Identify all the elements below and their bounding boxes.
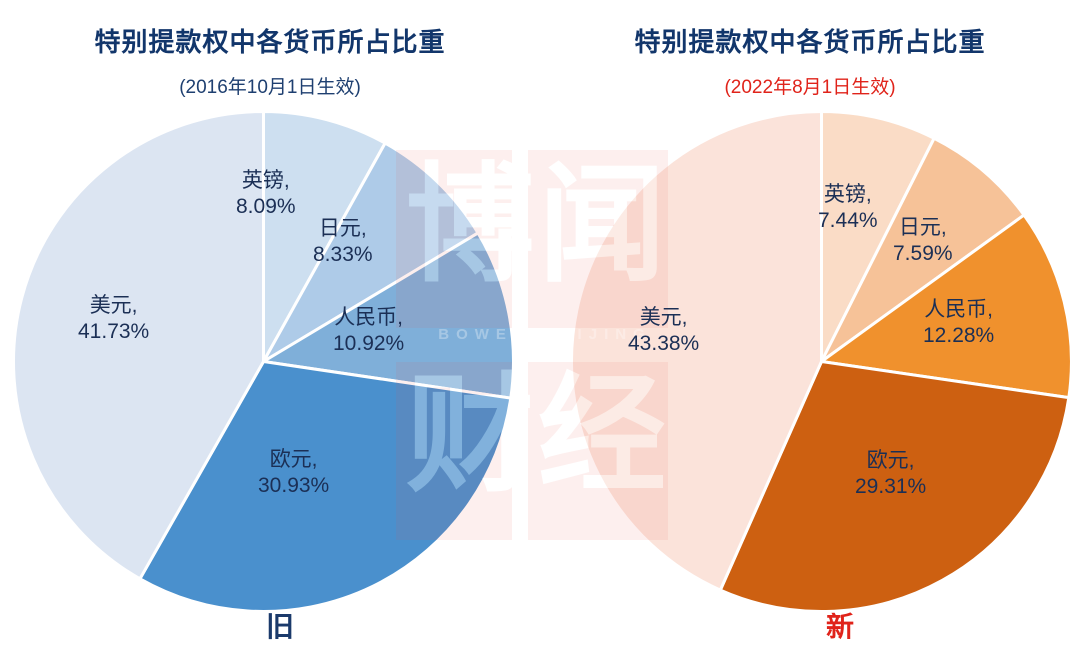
chart-title-new: 特别提款权中各货币所占比重	[540, 22, 1080, 59]
pie-svg-new	[565, 105, 1078, 618]
pie-svg-old	[7, 105, 520, 618]
chart-subtitle-new: (2022年8月1日生效)	[540, 72, 1080, 99]
chart-subtitle-old: (2016年10月1日生效)	[0, 72, 540, 99]
chart-title-old: 特别提款权中各货币所占比重	[0, 22, 540, 59]
infographic-canvas: 博 闻 财 经 BOWEN CAIJING 特别提款权中各货币所占比重 (201…	[0, 0, 1080, 666]
pie-chart-old	[7, 105, 520, 618]
pie-chart-new	[565, 105, 1078, 618]
